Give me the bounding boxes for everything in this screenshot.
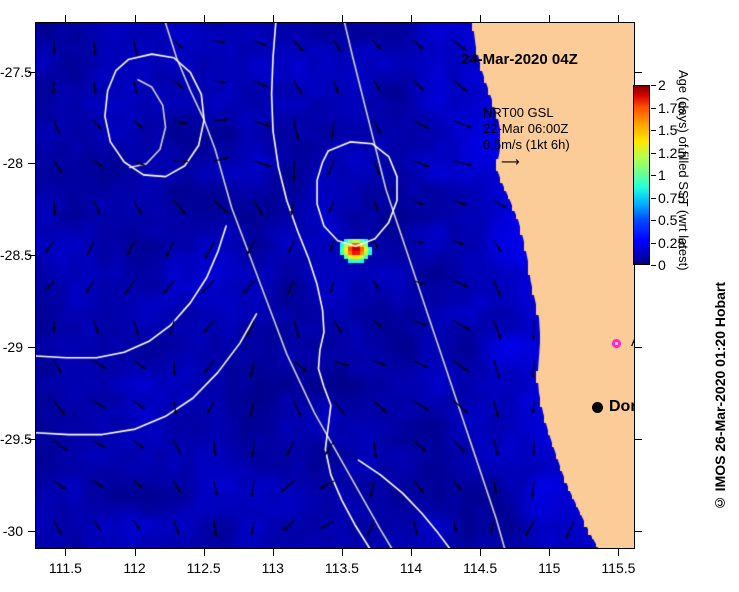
y-tick-right (635, 531, 642, 532)
x-tick (342, 549, 343, 556)
colorbar-tick (651, 220, 656, 221)
colorbar-tick (651, 130, 656, 131)
y-tick (28, 531, 35, 532)
vector-key-line1: NRT00 GSL (483, 105, 570, 121)
current-vector-key: NRT00 GSL 22-Mar 06:00Z 0.5m/s (1kt 6h) … (483, 105, 570, 170)
x-tick-label: 112 (123, 560, 145, 576)
y-tick-label: -29 (0, 339, 23, 355)
colorbar-tick (651, 108, 656, 109)
x-tick (65, 549, 66, 556)
colorbar-tick (651, 175, 656, 176)
copyright-notice: © IMOS 26-Mar-2020 01:20 Hobart (712, 282, 728, 511)
y-tick (28, 163, 35, 164)
y-tick (28, 347, 35, 348)
argo-legend-entry: Argo (611, 333, 635, 349)
colorbar-tick-label: 0 (658, 257, 666, 273)
y-tick-right (635, 439, 642, 440)
x-tick-top (273, 15, 274, 22)
vector-key-line3: 0.5m/s (1kt 6h) (483, 137, 570, 153)
x-tick-top (204, 15, 205, 22)
map-plot-area: 24-Mar-2020 04Z NRT00 GSL 22-Mar 06:00Z … (35, 22, 635, 549)
x-tick-label: 113 (262, 560, 284, 576)
colorbar-tick-label: 2 (658, 77, 666, 93)
y-tick-label: -28 (0, 155, 23, 171)
colorbar-tick-label: 0.5 (658, 212, 677, 228)
x-tick-label: 111.5 (49, 560, 82, 576)
x-tick-top (480, 15, 481, 22)
map-timestamp-title: 24-Mar-2020 04Z (461, 51, 578, 68)
city-marker-dongara: Dongara (592, 398, 635, 416)
x-tick (204, 549, 205, 556)
x-tick (480, 549, 481, 556)
vector-key-line2: 22-Mar 06:00Z (483, 121, 570, 137)
x-tick (135, 549, 136, 556)
colorbar-gradient (633, 85, 650, 265)
x-tick-label: 115.5 (601, 560, 635, 576)
x-tick-label: 114 (400, 560, 422, 576)
y-tick-label: -30 (0, 523, 23, 539)
colorbar-tick (651, 85, 656, 86)
colorbar-tick (651, 198, 656, 199)
x-tick-top (342, 15, 343, 22)
y-tick-right (635, 347, 642, 348)
y-tick-label: -29.5 (0, 431, 23, 447)
y-tick-right (635, 72, 642, 73)
x-tick-top (618, 15, 619, 22)
x-tick (411, 549, 412, 556)
city-dot-icon (592, 402, 603, 413)
colorbar-tick (651, 153, 656, 154)
x-tick-label: 114.5 (463, 560, 497, 576)
x-tick-top (549, 15, 550, 22)
x-tick-top (135, 15, 136, 22)
sst-age-raster (36, 23, 634, 548)
x-tick (618, 549, 619, 556)
x-tick (549, 549, 550, 556)
colorbar-tick (651, 265, 656, 266)
x-tick-top (65, 15, 66, 22)
city-label: Dongara (609, 398, 635, 416)
x-tick (273, 549, 274, 556)
x-tick-label: 113.5 (325, 560, 359, 576)
x-tick-top (411, 15, 412, 22)
colorbar-title: Age (days) of filled SST (wrt latest) (676, 70, 691, 271)
y-tick-label: -28.5 (0, 247, 23, 263)
colorbar-tick-label: 1.5 (658, 122, 677, 138)
argo-float-icon (611, 336, 622, 347)
colorbar-group: 00.250.50.7511.251.51.752 (633, 85, 650, 265)
vector-key-arrow-icon: ⟶ (501, 154, 570, 170)
x-tick-label: 112.5 (187, 560, 221, 576)
colorbar-tick (651, 243, 656, 244)
x-tick-label: 115 (538, 560, 560, 576)
colorbar-tick-label: 1 (658, 167, 666, 183)
y-tick-label: -27.5 (0, 64, 23, 80)
